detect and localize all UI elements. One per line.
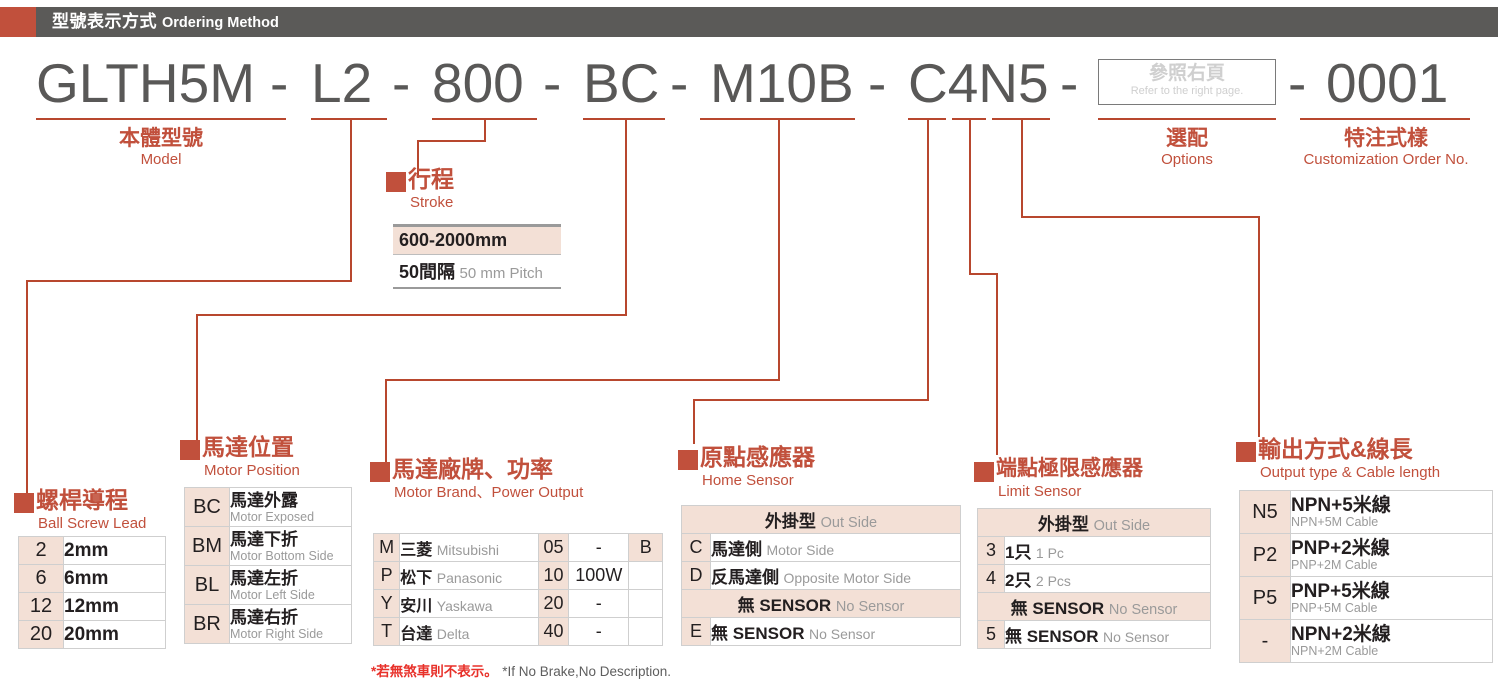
table-row: N5 NPN+5米線 NPN+5M Cable: [1240, 491, 1493, 534]
motor-position-table: BC 馬達外露 Motor Exposed BM 馬達下折 Motor Bott…: [184, 487, 352, 644]
home-sensor-title-cn: 原點感應器: [700, 444, 815, 470]
table-group-header: 無 SENSOR No Sensor: [682, 590, 961, 618]
label-customization: 特注式樣 Customization Order No.: [1296, 126, 1476, 169]
output-code: P5: [1240, 577, 1291, 620]
ball-screw-lead-title-en: Ball Screw Lead: [38, 515, 146, 532]
connector-limitsensor-h1: [969, 273, 998, 275]
label-model-cn: 本體型號: [36, 126, 286, 151]
brand-name: 台達 Delta: [400, 618, 539, 646]
limit-sensor-desc: 2只 2 Pcs: [1005, 565, 1211, 593]
connector-lead-v2: [26, 280, 28, 496]
stroke-title-en: Stroke: [410, 194, 453, 211]
stroke-range: 600-2000mm: [393, 227, 561, 255]
home-sensor-marker-square: [678, 450, 698, 470]
table-row: 20 20mm: [19, 621, 166, 649]
limit-sensor-code: 3: [978, 537, 1005, 565]
motor-brand-note-en: *If No Brake,No Description.: [502, 664, 671, 679]
options-box-en: Refer to the right page.: [1099, 85, 1275, 98]
header-accent-square: [0, 7, 36, 37]
table-row: 5 無 SENSOR No Sensor: [978, 621, 1211, 649]
table-row: E 無 SENSOR No Sensor: [682, 618, 961, 646]
table-row: BC 馬達外露 Motor Exposed: [185, 488, 352, 527]
table-row: P5 PNP+5米線 PNP+5M Cable: [1240, 577, 1493, 620]
stroke-table: 600-2000mm 50間隔 50 mm Pitch: [393, 224, 561, 289]
stroke-pitch-cn: 50間隔: [399, 262, 455, 282]
table-row: 4 2只 2 Pcs: [978, 565, 1211, 593]
table-row: 3 1只 1 Pc: [978, 537, 1211, 565]
motor-brand-title-cn: 馬達廠牌、功率: [392, 456, 553, 482]
pn-model: GLTH5M: [36, 52, 255, 114]
limit-sensor-code: 4: [978, 565, 1005, 593]
home-sensor-code: D: [682, 562, 711, 590]
pn-options-box[interactable]: 參照右頁 Refer to the right page.: [1098, 59, 1276, 105]
connector-homesensor-v1: [927, 118, 929, 400]
motor-position-marker-square: [180, 440, 200, 460]
table-row: 12 12mm: [19, 593, 166, 621]
brand-name: 松下 Panasonic: [400, 562, 539, 590]
pn-sep-6: -: [1060, 52, 1078, 114]
output-desc: PNP+5米線 PNP+5M Cable: [1291, 577, 1493, 620]
home-sensor-desc: 無 SENSOR No Sensor: [711, 618, 961, 646]
pn-custom-no: 0001: [1326, 52, 1448, 114]
motor-brand-title-en: Motor Brand、Power Output: [394, 484, 583, 501]
header-title-cn: 型號表示方式: [52, 12, 157, 31]
stroke-pitch-en: 50 mm Pitch: [459, 265, 542, 282]
connector-motorpos-v2: [196, 314, 198, 444]
table-group-header: 外掛型 Out Side: [682, 506, 961, 534]
limit-sensor-desc: 1只 1 Pc: [1005, 537, 1211, 565]
table-row: D 反馬達側 Opposite Motor Side: [682, 562, 961, 590]
power-value: -: [569, 618, 629, 646]
label-customization-cn: 特注式樣: [1296, 126, 1476, 151]
label-options-en: Options: [1098, 151, 1276, 169]
ordering-method-diagram: 型號表示方式Ordering Method GLTH5M - L2 - 800 …: [0, 0, 1498, 689]
limit-sensor-title-en: Limit Sensor: [998, 483, 1081, 500]
pn-motor-position: BC: [583, 52, 659, 114]
connector-output-v2: [1258, 216, 1260, 437]
limit-sensor-marker-square: [974, 462, 994, 482]
connector-output-v1: [1021, 118, 1023, 218]
pn-sep-5: -: [868, 52, 886, 114]
limit-sensor-desc: 無 SENSOR No Sensor: [1005, 621, 1211, 649]
motor-brand-note: *若無煞車則不表示。 *If No Brake,No Description.: [371, 660, 671, 681]
motor-position-desc: 馬達右折 Motor Right Side: [230, 605, 352, 644]
underline-customization: [1300, 118, 1470, 120]
table-row: C 馬達側 Motor Side: [682, 534, 961, 562]
power-code: 10: [538, 562, 568, 590]
connector-stroke-h1: [417, 140, 486, 142]
home-sensor-code: E: [682, 618, 711, 646]
stroke-marker-square: [386, 172, 406, 192]
output-type-table: N5 NPN+5米線 NPN+5M Cable P2 PNP+2米線 PNP+2…: [1239, 490, 1493, 663]
connector-limitsensor-v1: [969, 118, 971, 275]
label-model: 本體型號 Model: [36, 126, 286, 169]
power-code: 05: [538, 534, 568, 562]
output-desc: NPN+2米線 NPN+2M Cable: [1291, 620, 1493, 663]
brand-name: 三菱 Mitsubishi: [400, 534, 539, 562]
output-type-marker-square: [1236, 442, 1256, 462]
connector-lead-h1: [26, 280, 352, 282]
motor-position-title-cn: 馬達位置: [202, 434, 294, 460]
output-desc: NPN+5米線 NPN+5M Cable: [1291, 491, 1493, 534]
label-options: 選配 Options: [1098, 126, 1276, 169]
lead-value: 12mm: [64, 593, 166, 621]
brake-code: B: [629, 534, 663, 562]
home-sensor-group2-header: 無 SENSOR No Sensor: [682, 590, 961, 618]
output-type-title-cn: 輸出方式&線長: [1258, 436, 1413, 462]
brand-code: P: [374, 562, 400, 590]
home-sensor-desc: 反馬達側 Opposite Motor Side: [711, 562, 961, 590]
power-value: -: [569, 590, 629, 618]
brake-code: [629, 562, 663, 590]
table-group-header: 無 SENSOR No Sensor: [978, 593, 1211, 621]
pn-lead: L2: [311, 52, 372, 114]
label-options-cn: 選配: [1098, 126, 1276, 151]
connector-stroke-v1: [484, 118, 486, 142]
ball-screw-lead-marker-square: [14, 493, 34, 513]
motor-brand-marker-square: [370, 462, 390, 482]
motor-brand-note-cn: *若無煞車則不表示。: [371, 664, 498, 679]
ball-screw-lead-table: 2 2mm 6 6mm 12 12mm 20 20mm: [18, 536, 166, 649]
motor-position-desc: 馬達左折 Motor Left Side: [230, 566, 352, 605]
motor-position-code: BC: [185, 488, 230, 527]
power-code: 40: [538, 618, 568, 646]
table-row: BM 馬達下折 Motor Bottom Side: [185, 527, 352, 566]
table-row: - NPN+2米線 NPN+2M Cable: [1240, 620, 1493, 663]
connector-motorbrand-h1: [385, 379, 780, 381]
stroke-title-cn: 行程: [408, 166, 454, 192]
power-value: 100W: [569, 562, 629, 590]
lead-value: 2mm: [64, 537, 166, 565]
connector-lead-v1: [350, 118, 352, 281]
table-row: 6 6mm: [19, 565, 166, 593]
limit-sensor-title-cn: 端點極限感應器: [996, 456, 1143, 482]
home-sensor-table: 外掛型 Out Side C 馬達側 Motor Side D 反馬達側 Opp…: [681, 505, 961, 646]
power-code: 20: [538, 590, 568, 618]
motor-position-desc: 馬達下折 Motor Bottom Side: [230, 527, 352, 566]
motor-position-code: BM: [185, 527, 230, 566]
underline-model: [36, 118, 286, 120]
home-sensor-group1-header: 外掛型 Out Side: [682, 506, 961, 534]
limit-sensor-table: 外掛型 Out Side 3 1只 1 Pc 4 2只 2 Pcs 無 SENS…: [977, 508, 1211, 649]
limit-sensor-group2-header: 無 SENSOR No Sensor: [978, 593, 1211, 621]
label-customization-en: Customization Order No.: [1296, 151, 1476, 169]
ball-screw-lead-title-cn: 螺桿導程: [36, 487, 128, 513]
pn-motor-brand: M10B: [710, 52, 854, 114]
brand-code: T: [374, 618, 400, 646]
brand-code: M: [374, 534, 400, 562]
pn-sep-2: -: [392, 52, 410, 114]
table-row: 2 2mm: [19, 537, 166, 565]
home-sensor-code: C: [682, 534, 711, 562]
section-header: 型號表示方式Ordering Method: [0, 7, 1498, 37]
motor-brand-table: M 三菱 Mitsubishi 05 - B P 松下 Panasonic 10…: [373, 533, 663, 646]
connector-motorbrand-v1: [778, 118, 780, 380]
pn-sep-1: -: [270, 52, 288, 114]
connector-homesensor-h1: [693, 399, 929, 401]
pn-sep-3: -: [543, 52, 561, 114]
motor-position-code: BR: [185, 605, 230, 644]
pn-sep-7: -: [1288, 52, 1306, 114]
header-title: 型號表示方式Ordering Method: [52, 7, 279, 37]
table-row: P 松下 Panasonic 10 100W: [374, 562, 663, 590]
output-desc: PNP+2米線 PNP+2M Cable: [1291, 534, 1493, 577]
pn-sensors: C4N5: [908, 52, 1049, 114]
output-code: N5: [1240, 491, 1291, 534]
underline-motor-position: [583, 118, 665, 120]
brake-code: [629, 590, 663, 618]
power-value: -: [569, 534, 629, 562]
options-box-cn: 參照右頁: [1099, 63, 1275, 85]
table-row: P2 PNP+2米線 PNP+2M Cable: [1240, 534, 1493, 577]
output-type-title-en: Output type & Cable length: [1260, 464, 1440, 481]
connector-limitsensor-v2: [996, 273, 998, 455]
label-model-en: Model: [36, 151, 286, 169]
lead-code: 6: [19, 565, 64, 593]
lead-code: 12: [19, 593, 64, 621]
table-row: BL 馬達左折 Motor Left Side: [185, 566, 352, 605]
lead-code: 2: [19, 537, 64, 565]
table-row: T 台達 Delta 40 -: [374, 618, 663, 646]
home-sensor-desc: 馬達側 Motor Side: [711, 534, 961, 562]
brand-code: Y: [374, 590, 400, 618]
connector-motorbrand-v2: [385, 379, 387, 466]
motor-position-code: BL: [185, 566, 230, 605]
motor-position-title-en: Motor Position: [204, 462, 300, 479]
pn-stroke: 800: [432, 52, 524, 114]
limit-sensor-code: 5: [978, 621, 1005, 649]
underline-options: [1098, 118, 1276, 120]
motor-position-desc: 馬達外露 Motor Exposed: [230, 488, 352, 527]
connector-homesensor-v2: [693, 399, 695, 444]
pn-sep-4: -: [670, 52, 688, 114]
home-sensor-title-en: Home Sensor: [702, 472, 794, 489]
limit-sensor-group1-header: 外掛型 Out Side: [978, 509, 1211, 537]
header-title-en: Ordering Method: [162, 15, 279, 31]
underline-lead: [311, 118, 387, 120]
connector-motorpos-h1: [196, 314, 627, 316]
lead-code: 20: [19, 621, 64, 649]
table-group-header: 外掛型 Out Side: [978, 509, 1211, 537]
output-code: -: [1240, 620, 1291, 663]
stroke-pitch: 50間隔 50 mm Pitch: [393, 255, 561, 289]
output-code: P2: [1240, 534, 1291, 577]
lead-value: 20mm: [64, 621, 166, 649]
brake-code: [629, 618, 663, 646]
table-row: M 三菱 Mitsubishi 05 - B: [374, 534, 663, 562]
table-row: BR 馬達右折 Motor Right Side: [185, 605, 352, 644]
lead-value: 6mm: [64, 565, 166, 593]
connector-motorpos-v1: [625, 118, 627, 316]
table-row: Y 安川 Yaskawa 20 -: [374, 590, 663, 618]
brand-name: 安川 Yaskawa: [400, 590, 539, 618]
connector-output-h1: [1021, 216, 1260, 218]
